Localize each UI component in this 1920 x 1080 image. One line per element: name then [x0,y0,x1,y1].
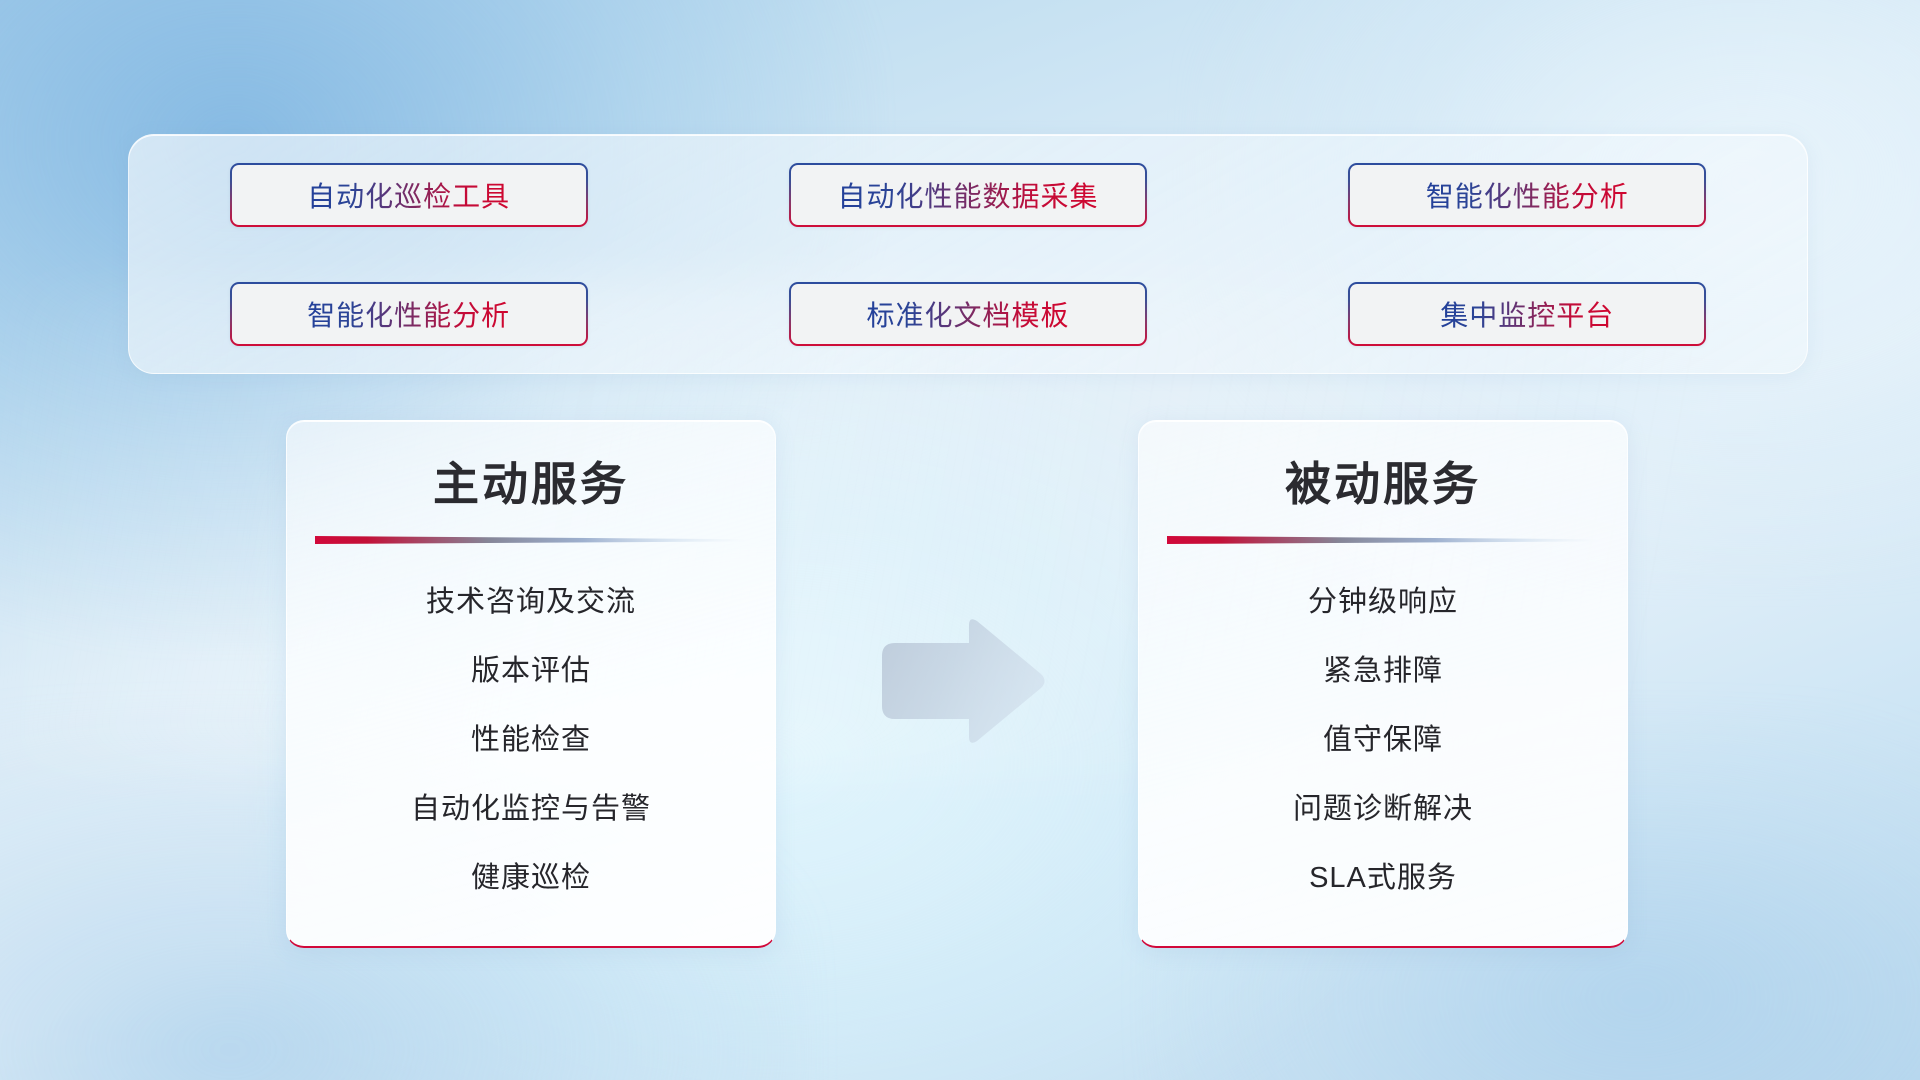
list-item: 健康巡检 [471,844,591,913]
title-underline-rule-reactive [1167,534,1599,546]
card-list-reactive: 分钟级响应 紧急排障 值守保障 问题诊断解决 SLA式服务 [1139,568,1627,913]
capability-pill-label: 智能化性能分析 [307,294,510,334]
capability-pill-grid: 自动化巡检工具 自动化性能数据采集 智能化性能分析 智能化性能分析 标准化文档模… [129,135,1807,373]
card-list-proactive: 技术咨询及交流 版本评估 性能检查 自动化监控与告警 健康巡检 [287,568,775,913]
list-item: 问题诊断解决 [1293,775,1473,844]
list-item: SLA式服务 [1309,844,1457,913]
capability-pill-standardized-document-template[interactable]: 标准化文档模板 [789,282,1147,346]
capability-pill-label: 集中监控平台 [1440,294,1614,334]
card-title-reactive: 被动服务 [1285,459,1481,510]
list-item: 分钟级响应 [1308,568,1458,637]
list-item: 值守保障 [1323,706,1443,775]
capability-pill-automated-inspection-tool[interactable]: 自动化巡检工具 [230,163,588,227]
slide-stage: 自动化巡检工具 自动化性能数据采集 智能化性能分析 智能化性能分析 标准化文档模… [0,0,1920,1080]
list-item: 自动化监控与告警 [411,775,651,844]
list-item: 技术咨询及交流 [426,568,636,637]
capability-panel: 自动化巡检工具 自动化性能数据采集 智能化性能分析 智能化性能分析 标准化文档模… [128,134,1808,374]
capability-pill-intelligent-performance-analysis-bottom[interactable]: 智能化性能分析 [230,282,588,346]
capability-pill-centralized-monitoring-platform[interactable]: 集中监控平台 [1348,282,1706,346]
capability-pill-intelligent-performance-analysis-top[interactable]: 智能化性能分析 [1348,163,1706,227]
service-card-proactive: 主动服务 技术咨询及交流 版本评估 性能检查 [286,420,776,948]
list-item: 紧急排障 [1323,637,1443,706]
list-item: 性能检查 [471,706,591,775]
arrow-right-block-icon [876,616,1048,746]
capability-pill-label: 自动化性能数据采集 [837,175,1098,215]
list-item: 版本评估 [471,637,591,706]
card-title-proactive: 主动服务 [433,459,629,510]
title-underline-rule-proactive [315,534,747,546]
capability-pill-automated-performance-data-collection[interactable]: 自动化性能数据采集 [789,163,1147,227]
capability-pill-label: 智能化性能分析 [1426,175,1629,215]
capability-pill-label: 自动化巡检工具 [307,175,510,215]
service-card-reactive: 被动服务 分钟级响应 紧急排障 值守保障 [1138,420,1628,948]
capability-pill-label: 标准化文档模板 [866,294,1069,334]
